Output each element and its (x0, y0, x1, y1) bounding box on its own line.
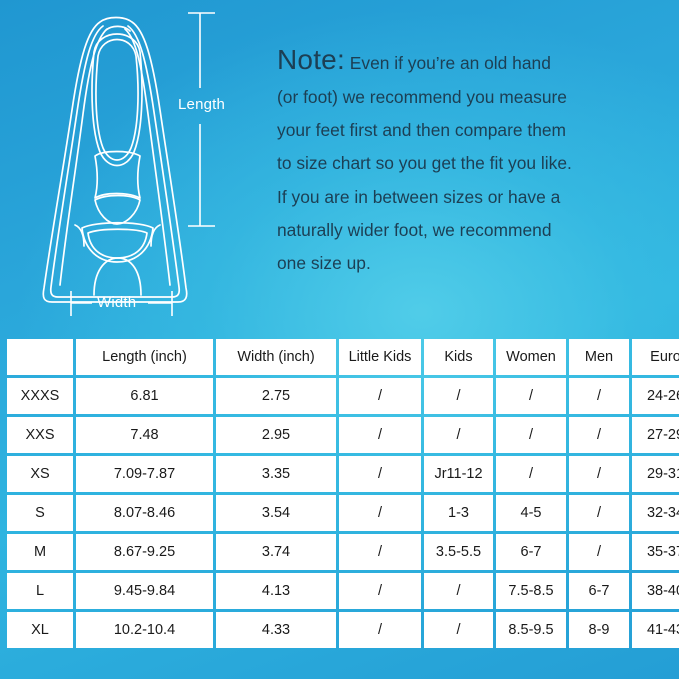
length-dimension-label: Length (178, 96, 225, 113)
fin-outline-svg (0, 0, 290, 330)
cell-little-kids: / (339, 378, 421, 414)
cell-women: 6-7 (496, 534, 566, 570)
cell-women: 8.5-9.5 (496, 612, 566, 648)
row-size-label: M (7, 534, 73, 570)
cell-kids: / (424, 417, 493, 453)
cell-euro: 29-31 (632, 456, 679, 492)
cell-euro: 41-43 (632, 612, 679, 648)
swim-fin-diagram: Length Width (0, 0, 290, 330)
cell-little-kids: / (339, 495, 421, 531)
cell-kids: 3.5-5.5 (424, 534, 493, 570)
cell-women: 7.5-8.5 (496, 573, 566, 609)
note-first-line: Even if you’re an old hand (345, 53, 551, 73)
size-chart-table: Length (inch)Width (inch)Little KidsKids… (4, 336, 679, 651)
table-row: XXS7.482.95////27-29 (7, 417, 679, 453)
cell-width-inch: 4.13 (216, 573, 336, 609)
cell-width-inch: 3.74 (216, 534, 336, 570)
cell-euro: 24-26 (632, 378, 679, 414)
cell-euro: 38-40 (632, 573, 679, 609)
column-header-women: Women (496, 339, 566, 375)
cell-width-inch: 3.35 (216, 456, 336, 492)
instep-band-upper (95, 152, 140, 199)
cell-men: / (569, 456, 629, 492)
column-header-length-inch: Length (inch) (76, 339, 213, 375)
cell-length-inch: 9.45-9.84 (76, 573, 213, 609)
cell-men: 8-9 (569, 612, 629, 648)
cell-euro: 35-37 (632, 534, 679, 570)
table-header-row: Length (inch)Width (inch)Little KidsKids… (7, 339, 679, 375)
width-dimension-label: Width (97, 294, 136, 311)
cell-kids: Jr11-12 (424, 456, 493, 492)
cell-men: 6-7 (569, 573, 629, 609)
cell-length-inch: 6.81 (76, 378, 213, 414)
row-size-label: XXS (7, 417, 73, 453)
cell-length-inch: 7.09-7.87 (76, 456, 213, 492)
note-body-text: (or foot) we recommend you measure your … (277, 81, 669, 280)
cell-width-inch: 4.33 (216, 612, 336, 648)
heel-vent-arch (94, 258, 141, 295)
note-block: Note: Even if you’re an old hand (or foo… (277, 44, 669, 280)
row-size-label: XXXS (7, 378, 73, 414)
cell-width-inch: 2.95 (216, 417, 336, 453)
table-row: S8.07-8.463.54/1-34-5/32-34 (7, 495, 679, 531)
cell-length-inch: 10.2-10.4 (76, 612, 213, 648)
foot-pocket-inner (96, 40, 138, 161)
cell-euro: 32-34 (632, 495, 679, 531)
cell-kids: / (424, 573, 493, 609)
column-header-kids: Kids (424, 339, 493, 375)
column-header-size (7, 339, 73, 375)
cell-kids: 1-3 (424, 495, 493, 531)
cell-little-kids: / (339, 612, 421, 648)
table-row: M8.67-9.253.74/3.5-5.56-7/35-37 (7, 534, 679, 570)
table-header: Length (inch)Width (inch)Little KidsKids… (7, 339, 679, 375)
cell-little-kids: / (339, 573, 421, 609)
cell-length-inch: 7.48 (76, 417, 213, 453)
table-row: XS7.09-7.873.35/Jr11-12//29-31 (7, 456, 679, 492)
column-header-euro: Euro (632, 339, 679, 375)
row-size-label: XL (7, 612, 73, 648)
table-row: L9.45-9.844.13//7.5-8.56-738-40 (7, 573, 679, 609)
length-dimension-line (188, 13, 215, 226)
cell-kids: / (424, 612, 493, 648)
column-header-men: Men (569, 339, 629, 375)
cell-women: / (496, 417, 566, 453)
heel-rim-inner (88, 229, 147, 258)
row-size-label: XS (7, 456, 73, 492)
instep-band-lower (95, 196, 140, 225)
note-heading: Note: (277, 44, 345, 75)
column-header-width-inch: Width (inch) (216, 339, 336, 375)
fin-blade-inner-line (51, 26, 179, 297)
cell-women: / (496, 456, 566, 492)
cell-width-inch: 2.75 (216, 378, 336, 414)
cell-little-kids: / (339, 534, 421, 570)
cell-men: / (569, 417, 629, 453)
size-chart-table-wrapper: Length (inch)Width (inch)Little KidsKids… (4, 336, 675, 651)
cell-length-inch: 8.07-8.46 (76, 495, 213, 531)
row-size-label: L (7, 573, 73, 609)
cell-women: / (496, 378, 566, 414)
row-size-label: S (7, 495, 73, 531)
column-header-little-kids: Little Kids (339, 339, 421, 375)
cell-little-kids: / (339, 456, 421, 492)
table-row: XL10.2-10.44.33//8.5-9.58-941-43 (7, 612, 679, 648)
table-row: XXXS6.812.75////24-26 (7, 378, 679, 414)
cell-men: / (569, 378, 629, 414)
cell-women: 4-5 (496, 495, 566, 531)
table-body: XXXS6.812.75////24-26XXS7.482.95////27-2… (7, 378, 679, 648)
cell-men: / (569, 534, 629, 570)
cell-men: / (569, 495, 629, 531)
cell-little-kids: / (339, 417, 421, 453)
cell-width-inch: 3.54 (216, 495, 336, 531)
foot-pocket-outer (92, 34, 142, 166)
cell-length-inch: 8.67-9.25 (76, 534, 213, 570)
cell-euro: 27-29 (632, 417, 679, 453)
cell-kids: / (424, 378, 493, 414)
size-chart-page: Length Width Note: Even if you’re an old… (0, 0, 679, 679)
